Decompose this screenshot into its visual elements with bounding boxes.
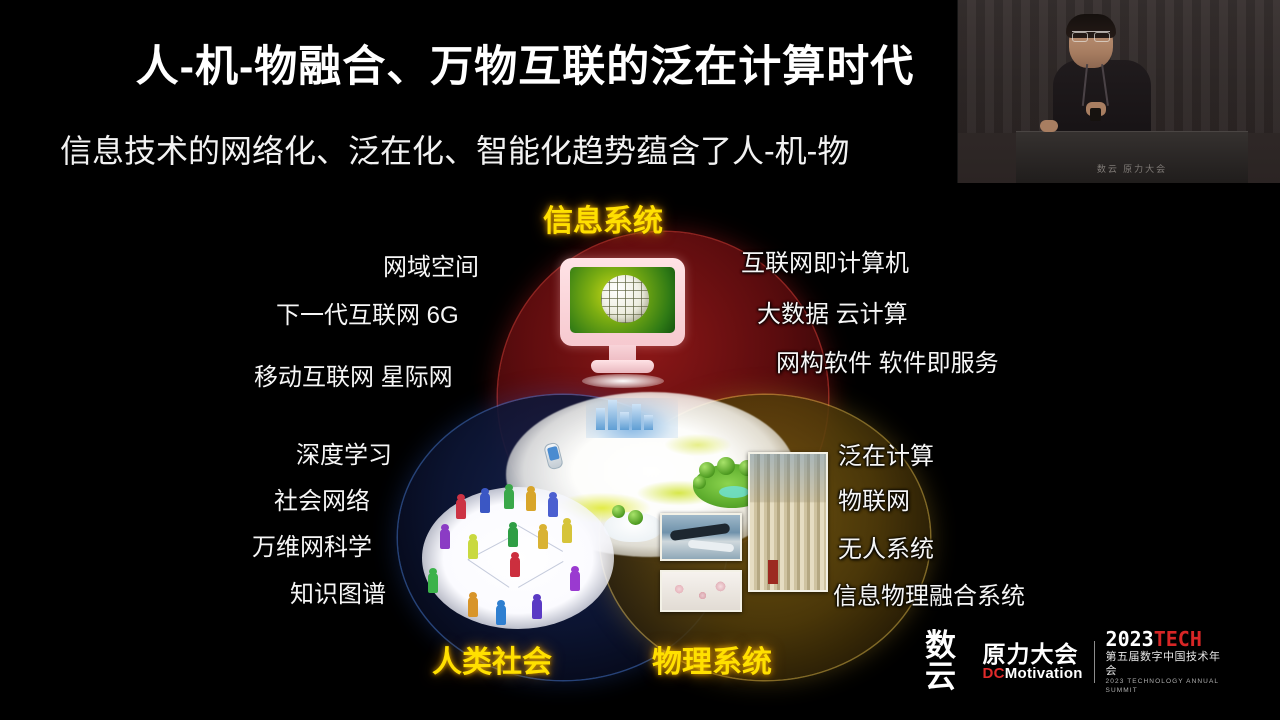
keyword-top-right-3: 网构软件 软件即服务 (776, 343, 999, 378)
tree-icon (612, 505, 625, 518)
podium: 数云 原力大会 (1016, 131, 1248, 183)
person-figure (548, 497, 558, 517)
speaker-video-overlay[interactable]: 数云 原力大会 (957, 0, 1280, 183)
person-figure (538, 529, 548, 549)
person-figure (480, 493, 490, 513)
tree-icon (717, 457, 735, 475)
logo-brand-en: DCMotivation (982, 666, 1082, 683)
person-figure (562, 523, 572, 543)
event-logo: 数云 原力大会 DCMotivation 2023TECH 第五届数字中国技术年… (925, 634, 1225, 690)
keyword-bottom-right-3: 无人系统 (838, 529, 934, 564)
logo-subtitle-en: 2023 TECHNOLOGY ANNUAL SUMMIT (1106, 678, 1225, 695)
person-figure (510, 557, 520, 577)
person-figure (504, 489, 514, 509)
skyscraper-photo (748, 452, 828, 592)
monitor-screen (570, 267, 675, 333)
keyword-bottom-left-4: 知识图谱 (290, 574, 386, 609)
people-network-illustration (422, 487, 614, 629)
keyword-bottom-right-2: 物联网 (838, 481, 910, 516)
person-figure (468, 597, 478, 617)
venn-label-information-system: 信息系统 (543, 196, 663, 240)
computer-monitor-icon (560, 258, 685, 376)
logo-brand-en-dc: DC (982, 665, 1004, 682)
presenter-clicker (1090, 108, 1101, 121)
slide-stage: 人-机-物融合、万物互联的泛在计算时代 信息技术的网络化、泛在化、智能化趋势蕴含… (0, 0, 1280, 720)
keyword-top-left-1: 网域空间 (383, 247, 479, 282)
person-figure (428, 573, 438, 593)
keyword-top-left-3: 移动互联网 星际网 (254, 357, 453, 392)
person-figure (532, 599, 542, 619)
keyword-bottom-right-1: 泛在计算 (838, 436, 934, 471)
logo-year: 2023 (1106, 627, 1154, 651)
wireframe-globe-icon (601, 275, 649, 323)
slide-subtitle: 信息技术的网络化、泛在化、智能化趋势蕴含了人-机-物 (60, 126, 990, 172)
podium-text: 数云 原力大会 (1016, 162, 1248, 175)
logo-brand-cn: 数云 (925, 631, 976, 693)
logo-brand-en-rest: Motivation (1005, 665, 1083, 682)
keyword-top-left-2: 下一代互联网 6G (276, 295, 459, 330)
keyword-top-right-2: 大数据 云计算 (757, 294, 908, 329)
tree-icon (693, 476, 706, 489)
logo-year-accent: TECH (1154, 627, 1202, 651)
tree-icon (628, 510, 643, 525)
microscopy-photo (660, 570, 742, 612)
keyword-bottom-left-1: 深度学习 (296, 435, 392, 470)
logo-year-line: 2023TECH (1106, 629, 1225, 650)
person-figure (496, 605, 506, 625)
monitor-body (560, 258, 685, 346)
logo-brand-cn2: 原力大会 (982, 642, 1082, 666)
logo-subtitle-cn: 第五届数字中国技术年会 (1106, 650, 1225, 679)
venn-label-physical-system: 物理系统 (652, 637, 772, 681)
pond-shape (719, 486, 749, 498)
person-figure (468, 539, 478, 559)
airplane-photo (660, 513, 742, 561)
person-figure (526, 491, 536, 511)
person-figure (508, 527, 518, 547)
keyword-top-right-1: 互联网即计算机 (741, 243, 909, 278)
logo-divider (1094, 641, 1095, 683)
person-figure (440, 529, 450, 549)
blue-city-illustration (586, 398, 678, 438)
slide-title: 人-机-物融合、万物互联的泛在计算时代 (0, 32, 1050, 94)
monitor-glow (582, 374, 664, 388)
person-figure (570, 571, 580, 591)
person-figure (456, 499, 466, 519)
logo-brand-stack: 原力大会 DCMotivation (982, 642, 1082, 683)
venn-label-human-society: 人类社会 (432, 637, 552, 681)
monitor-base (591, 360, 654, 373)
speaker-hand (1040, 120, 1058, 132)
keyword-bottom-left-2: 社会网络 (274, 481, 370, 516)
logo-event-info: 2023TECH 第五届数字中国技术年会 2023 TECHNOLOGY ANN… (1106, 629, 1225, 695)
keyword-bottom-right-4: 信息物理融合系统 (833, 576, 1025, 611)
glasses-icon (1072, 31, 1110, 40)
keyword-bottom-left-3: 万维网科学 (252, 527, 372, 562)
